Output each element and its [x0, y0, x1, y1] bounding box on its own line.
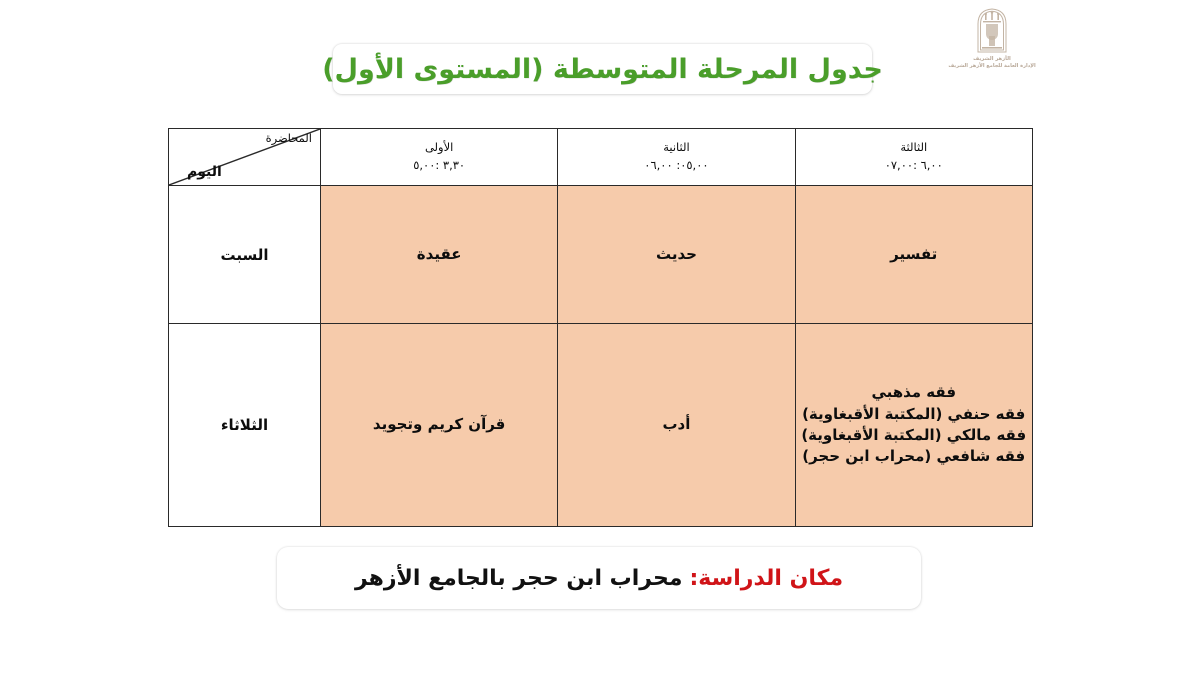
study-location-label: مكان الدراسة:	[689, 566, 843, 591]
al-azhar-mosque-logo-icon	[938, 6, 1046, 54]
column-header-first: الأولى ٣,٣٠ :٥,٠٠	[321, 129, 558, 186]
study-location-value: محراب ابن حجر بالجامع الأزهر	[355, 566, 683, 591]
column-header-first-name: الأولى	[321, 139, 557, 156]
cell-saturday-first: عقيدة	[321, 186, 558, 324]
subject-text: فقه مذهبي	[796, 382, 1032, 403]
cell-tuesday-third: فقه مذهبي فقه حنفي (المكتبة الأقبغاوية) …	[795, 324, 1032, 527]
column-header-second: الثانية ٠٥,٠٠: ٠٦,٠٠	[558, 129, 795, 186]
cell-saturday-third: تفسير	[795, 186, 1032, 324]
cell-tuesday-second: أدب	[558, 324, 795, 527]
column-header-second-name: الثانية	[558, 139, 794, 156]
logo-caption-secondary: الإدارة العامة للجامع الأزهر الشريف	[938, 63, 1046, 71]
table-row: تفسير حديث عقيدة السبت	[169, 186, 1033, 324]
corner-label-day: اليوم	[187, 164, 222, 181]
day-label-tuesday: الثلاثاء	[169, 324, 321, 527]
logo-caption-primary: الأزهر الشريف	[938, 55, 1046, 63]
page-title-pill: جدول المرحلة المتوسطة (المستوى الأول)	[333, 44, 872, 94]
schedule-table: الثالثة ٦,٠٠ :٠٧,٠٠ الثانية ٠٥,٠٠: ٠٦,٠٠…	[168, 128, 1033, 527]
table-header-row: الثالثة ٦,٠٠ :٠٧,٠٠ الثانية ٠٥,٠٠: ٠٦,٠٠…	[169, 129, 1033, 186]
column-header-third-name: الثالثة	[796, 139, 1032, 156]
subject-text: فقه حنفي (المكتبة الأقبغاوية)	[796, 404, 1032, 425]
table-row: فقه مذهبي فقه حنفي (المكتبة الأقبغاوية) …	[169, 324, 1033, 527]
cell-saturday-second: حديث	[558, 186, 795, 324]
column-header-third-time: ٦,٠٠ :٠٧,٠٠	[796, 157, 1032, 175]
corner-label-lecture: المحاضرة	[266, 132, 312, 146]
al-azhar-logo-block: الأزهر الشريف الإدارة العامة للجامع الأز…	[938, 6, 1046, 71]
subject-text: تفسير	[796, 244, 1032, 265]
subject-text: فقه مالكي (المكتبة الأقبغاوية)	[796, 425, 1032, 446]
study-location-pill: مكان الدراسة: محراب ابن حجر بالجامع الأز…	[277, 547, 921, 609]
subject-text: قرآن كريم وتجويد	[321, 414, 557, 435]
table-corner-cell: المحاضرة اليوم	[169, 129, 321, 186]
subject-text: فقه شافعي (محراب ابن حجر)	[796, 446, 1032, 467]
subject-text: أدب	[558, 414, 794, 435]
column-header-first-time: ٣,٣٠ :٥,٠٠	[321, 157, 557, 175]
page-title: جدول المرحلة المتوسطة (المستوى الأول)	[322, 54, 883, 85]
day-label-saturday: السبت	[169, 186, 321, 324]
column-header-third: الثالثة ٦,٠٠ :٠٧,٠٠	[795, 129, 1032, 186]
column-header-second-time: ٠٥,٠٠: ٠٦,٠٠	[558, 157, 794, 175]
cell-tuesday-first: قرآن كريم وتجويد	[321, 324, 558, 527]
subject-text: عقيدة	[321, 244, 557, 265]
subject-text: حديث	[558, 244, 794, 265]
